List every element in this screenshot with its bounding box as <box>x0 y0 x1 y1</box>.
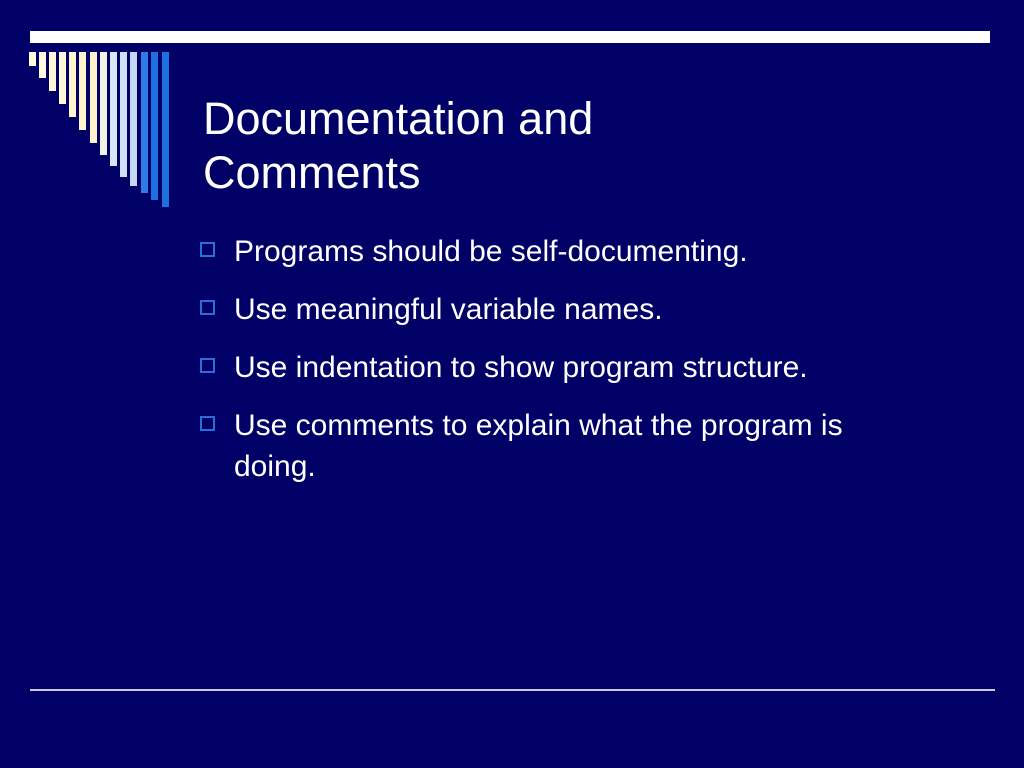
motif-bar <box>59 52 66 104</box>
list-item-label: Use comments to explain what the program… <box>234 405 900 487</box>
descending-bars-motif <box>29 52 171 207</box>
motif-bar <box>110 52 117 166</box>
motif-bar <box>120 52 127 177</box>
top-divider-bar <box>30 31 990 43</box>
square-bullet-icon <box>200 300 215 315</box>
motif-bar <box>49 52 56 91</box>
motif-bar <box>79 52 86 130</box>
motif-bar <box>151 52 158 200</box>
list-item-label: Programs should be self-documenting. <box>234 231 900 272</box>
list-item-label: Use meaningful variable names. <box>234 289 900 330</box>
page-title: Documentation and Comments <box>203 92 823 200</box>
square-bullet-icon <box>200 242 215 257</box>
motif-bar <box>141 52 148 193</box>
slide-canvas: Documentation and Comments Programs shou… <box>0 0 1024 768</box>
square-bullet-icon <box>200 358 215 373</box>
list-item: Use indentation to show program structur… <box>200 347 900 388</box>
list-item: Use meaningful variable names. <box>200 289 900 330</box>
square-bullet-icon <box>200 416 215 431</box>
motif-bar <box>90 52 97 143</box>
motif-bar <box>39 52 46 78</box>
bullet-list: Programs should be self-documenting.Use … <box>200 231 900 504</box>
motif-bar <box>130 52 137 186</box>
motif-bar <box>69 52 76 117</box>
motif-bar <box>100 52 107 155</box>
motif-bar <box>162 52 169 207</box>
list-item-label: Use indentation to show program structur… <box>234 347 900 388</box>
motif-bar <box>29 52 36 66</box>
bottom-divider-rule <box>30 689 995 691</box>
list-item: Use comments to explain what the program… <box>200 405 900 487</box>
list-item: Programs should be self-documenting. <box>200 231 900 272</box>
